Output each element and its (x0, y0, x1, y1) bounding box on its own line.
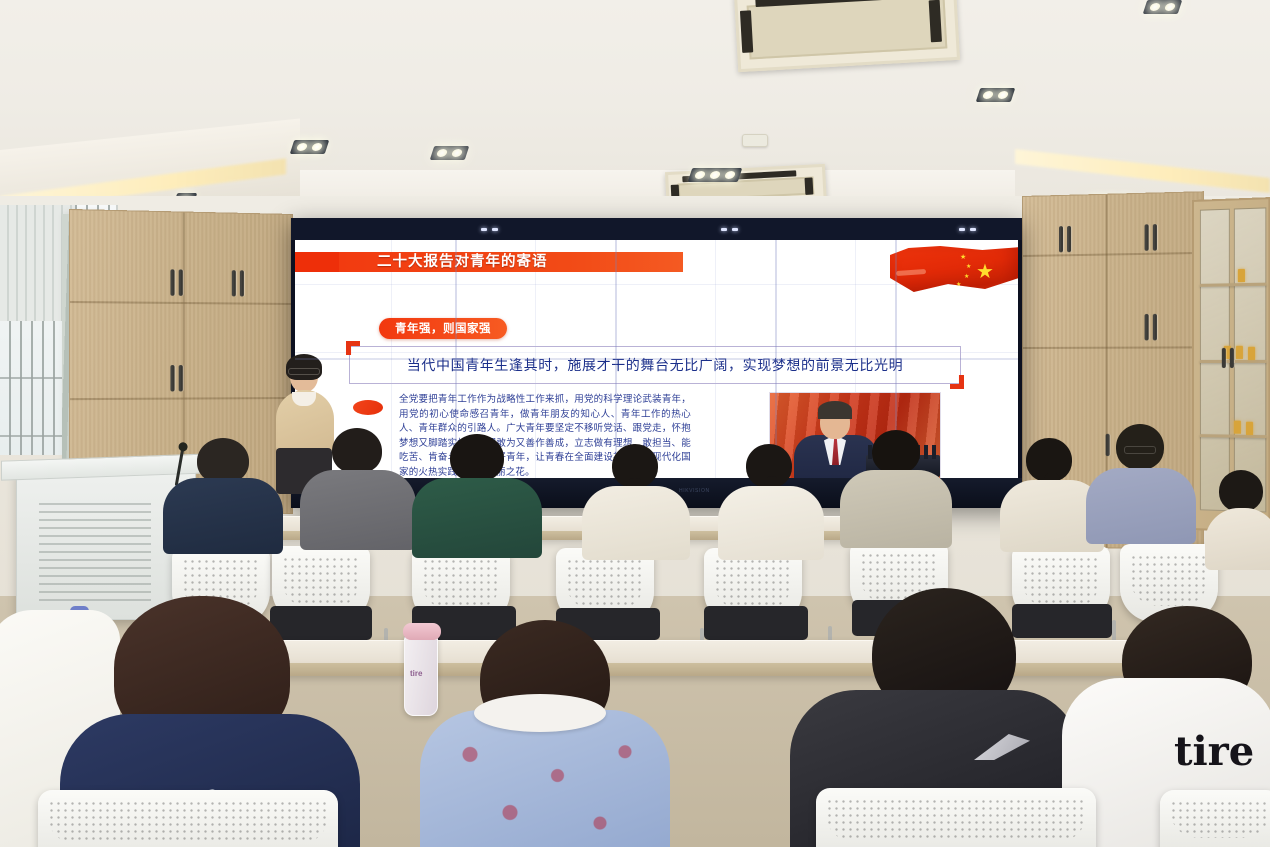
tshirt-text: tire (1174, 728, 1254, 775)
trophy-icon (1238, 269, 1245, 282)
audience-member (163, 438, 283, 548)
ceiling-spotlight-cluster (290, 140, 330, 154)
classroom-chair[interactable] (1160, 790, 1270, 847)
videowall-top-bezel (291, 218, 1022, 240)
lace-collar (474, 694, 606, 732)
audience-member (840, 430, 952, 546)
ceiling-spotlight-cluster (1143, 0, 1183, 14)
cabinet-handle[interactable] (1067, 226, 1071, 252)
trophy-icon (1248, 347, 1255, 360)
panel-led-indicator (959, 228, 976, 231)
cabinet-handle[interactable] (1153, 314, 1157, 341)
ceiling-spotlight-cluster (430, 146, 470, 160)
cabinet-handle[interactable] (1230, 348, 1234, 368)
audience-member (300, 428, 416, 546)
cabinet-handle[interactable] (1059, 226, 1063, 252)
classroom-chair[interactable] (816, 788, 1096, 847)
cabinet-handle[interactable] (1145, 314, 1149, 341)
cabinet-handle[interactable] (170, 269, 174, 296)
ceiling-spotlight-cluster (688, 168, 743, 182)
trophy-icon (1234, 421, 1241, 434)
cabinet-handle[interactable] (179, 365, 183, 391)
smoke-detector-icon (742, 134, 768, 147)
cabinet-handle[interactable] (1145, 224, 1149, 251)
glasses-icon (288, 368, 320, 375)
slide-title-notch (295, 252, 339, 272)
bullet-dot-icon (353, 400, 383, 415)
cabinet-handle[interactable] (179, 269, 183, 295)
trophy-icon (1236, 346, 1243, 359)
floral-pattern (420, 728, 670, 847)
cassette-ac-unit-large (734, 0, 960, 72)
slide-subtitle-pill: 青年强，则国家强 (379, 318, 507, 339)
audience-member-foreground (420, 624, 670, 847)
slide-title: 二十大报告对青年的寄语 (377, 252, 548, 272)
cove-light-right (1015, 149, 1270, 193)
panel-led-indicator (481, 228, 498, 231)
chinese-flag-icon: ★ ★ ★ ★ ★ (890, 242, 1018, 306)
audience-member (1205, 470, 1270, 560)
cabinet-handle[interactable] (240, 270, 244, 296)
cabinet-handle[interactable] (170, 365, 174, 391)
classroom-chair[interactable] (38, 790, 338, 847)
classroom-photo-scene: 二十大报告对青年的寄语 ★ ★ ★ ★ ★ 青年强，则国家强 当代中国青年生逢其… (0, 0, 1270, 847)
panel-led-indicator (721, 228, 738, 231)
glasses-icon (1124, 446, 1156, 454)
cabinet-handle[interactable] (232, 270, 236, 296)
cabinet-handle[interactable] (1153, 224, 1157, 251)
trophy-icon (1246, 422, 1253, 435)
audience-member (412, 434, 542, 552)
cabinet-handle[interactable] (1222, 348, 1226, 368)
ceiling-spotlight-cluster (976, 88, 1016, 102)
audience-member (582, 444, 690, 554)
slide-quote-text: 当代中国青年生逢其时，施展才干的舞台无比广阔，实现梦想的前景无比光明 (350, 347, 960, 383)
audience-member (1086, 424, 1196, 536)
slide-quote-box: 当代中国青年生逢其时，施展才干的舞台无比广阔，实现梦想的前景无比光明 (349, 346, 961, 384)
audience-member (718, 444, 824, 554)
